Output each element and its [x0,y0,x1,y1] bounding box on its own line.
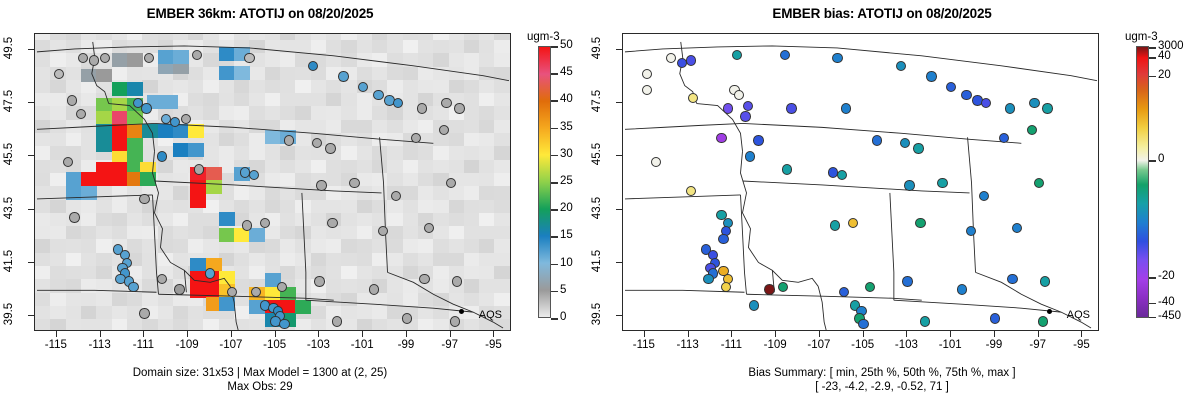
observation-marker[interactable] [89,55,99,65]
observation-marker[interactable] [703,274,713,284]
y-tick-mark [616,155,622,156]
x-tick-label: -115 [624,339,664,351]
colorbar-tick-label: 5 [560,284,566,296]
x-tick-label: -109 [755,339,795,351]
observation-marker[interactable] [349,178,359,188]
y-tick-label: 49.5 [591,31,603,65]
x-tick-mark [362,331,363,337]
colorbar-tick-mark [1149,303,1156,305]
observation-marker[interactable] [174,284,184,294]
observation-marker[interactable] [990,313,1000,323]
observation-marker[interactable] [1042,103,1052,113]
observation-marker[interactable] [686,55,696,65]
x-tick-mark [994,331,995,337]
colorbar-tick-label: 25 [560,175,573,187]
observation-marker[interactable] [369,284,379,294]
observation-marker[interactable] [957,284,967,294]
colorbar-tick-mark [551,209,558,211]
observation-marker[interactable] [937,178,947,188]
observation-marker[interactable] [325,143,335,153]
observation-marker[interactable] [332,316,342,326]
x-tick-label: -115 [36,339,76,351]
x-tick-label: -95 [473,339,513,351]
colorbar-tick-label: 45 [560,66,573,78]
colorbar-tick-label: 40 [1158,50,1171,62]
observation-marker[interactable] [205,268,215,278]
x-tick-mark [775,331,776,337]
colorbar-tick-mark [1149,317,1156,319]
colorbar-tick-label: 50 [560,39,573,51]
x-tick-label: -113 [80,339,120,351]
observation-marker[interactable] [316,180,326,190]
y-tick-label: 47.5 [3,84,15,118]
colorbar-tick-label: 0 [1158,153,1164,165]
observation-marker[interactable] [786,103,796,113]
x-tick-label: -101 [342,339,382,351]
y-tick-label: 45.5 [3,137,15,171]
x-tick-label: -105 [843,339,883,351]
colorbar-tick-mark [1149,76,1156,78]
x-tick-label: -111 [123,339,163,351]
observation-marker[interactable] [858,319,868,329]
observation-marker[interactable] [913,143,923,153]
x-tick-label: -97 [1018,339,1058,351]
bias-panel: EMBER bias: ATOTIJ on 08/20/2025 [600,0,1200,409]
x-tick-label: -105 [255,339,295,351]
observation-marker[interactable] [454,103,464,113]
observation-marker[interactable] [378,226,388,236]
right-caption-line2: [ -23, -4.2, -2.9, -0.52, 71 ] [622,380,1142,394]
y-tick-label: 43.5 [591,191,603,225]
observation-marker[interactable] [1038,316,1048,326]
observation-marker[interactable] [157,274,167,284]
colorbar-tick-mark [1149,57,1156,59]
state-boundaries-right [623,34,1098,330]
x-tick-label: -99 [974,339,1014,351]
x-tick-mark [906,331,907,337]
colorbar-tick-label: 20 [1158,69,1171,81]
observation-marker[interactable] [723,103,733,113]
x-tick-mark [187,331,188,337]
x-tick-mark [863,331,864,337]
observation-marker[interactable] [926,71,936,81]
right-caption: Bias Summary: [ min, 25th %, 50th %, 75t… [622,366,1142,394]
x-tick-mark [1081,331,1082,337]
y-tick-mark [616,209,622,210]
right-colorbar [1136,46,1149,318]
x-tick-mark [493,331,494,337]
y-tick-label: 49.5 [3,31,15,65]
observation-marker[interactable] [718,234,728,244]
observation-marker[interactable] [67,95,77,105]
y-tick-label: 39.5 [3,297,15,331]
observation-marker[interactable] [841,103,851,113]
observation-marker[interactable] [452,276,462,286]
x-tick-mark [819,331,820,337]
left-caption: Domain size: 31x53 | Max Model = 1300 at… [0,366,520,394]
colorbar-tick-label: -20 [1158,270,1175,282]
x-tick-label: -101 [930,339,970,351]
observation-marker[interactable] [441,98,451,108]
x-tick-mark [450,331,451,337]
colorbar-tick-mark [551,46,558,48]
observation-marker[interactable] [1034,178,1044,188]
colorbar-tick-label: 30 [560,148,573,160]
colorbar-tick-mark [1149,47,1156,49]
y-tick-mark [28,102,34,103]
aqs-legend-label-right: AQS [1067,309,1090,321]
observation-marker[interactable] [1029,98,1039,108]
observation-marker[interactable] [446,178,456,188]
observation-marker[interactable] [782,164,792,174]
x-tick-label: -97 [430,339,470,351]
observation-marker[interactable] [244,53,254,63]
observation-marker[interactable] [419,274,429,284]
left-colorbar [538,46,551,318]
left-colorbar-units: ugm-3 [527,31,560,43]
observation-marker[interactable] [63,157,73,167]
colorbar-tick-label: -450 [1158,310,1181,322]
x-tick-mark [644,331,645,337]
right-colorbar-units: ugm-3 [1125,31,1158,43]
observation-marker[interactable] [402,313,412,323]
colorbar-tick-mark [551,236,558,238]
x-tick-mark [275,331,276,337]
colorbar-tick-label: 0 [560,311,566,323]
observation-marker[interactable] [314,276,324,286]
observation-marker[interactable] [721,282,731,292]
observation-marker[interactable] [745,151,755,161]
y-tick-label: 43.5 [3,191,15,225]
x-tick-mark [100,331,101,337]
aqs-legend-label-left: AQS [479,309,502,321]
colorbar-tick-mark [551,100,558,102]
y-tick-mark [28,49,34,50]
x-tick-label: -107 [211,339,251,351]
colorbar-tick-mark [551,264,558,266]
observation-marker[interactable] [144,53,154,63]
y-tick-label: 39.5 [591,297,603,331]
colorbar-tick-mark [551,291,558,293]
x-tick-mark [231,331,232,337]
left-caption-line1: Domain size: 31x53 | Max Model = 1300 at… [0,366,520,380]
y-tick-mark [616,262,622,263]
colorbar-tick-mark [551,73,558,75]
y-tick-mark [28,155,34,156]
x-tick-label: -95 [1061,339,1101,351]
observation-marker[interactable] [373,90,383,100]
observation-marker[interactable] [904,180,914,190]
observation-marker[interactable] [764,284,774,294]
y-tick-label: 45.5 [591,137,603,171]
observation-marker[interactable] [1007,274,1017,284]
colorbar-tick-label: 40 [560,93,573,105]
y-tick-mark [616,49,622,50]
observation-marker[interactable] [284,135,294,145]
y-tick-label: 41.5 [591,244,603,278]
observation-marker[interactable] [411,133,421,143]
x-tick-label: -107 [799,339,839,351]
observation-marker[interactable] [753,135,763,145]
observation-marker[interactable] [327,218,337,228]
x-tick-mark [56,331,57,337]
y-tick-mark [28,262,34,263]
colorbar-tick-label: 35 [560,121,573,133]
model-concentration-panel: EMBER 36km: ATOTIJ on 08/20/2025 [0,0,600,409]
x-tick-mark [143,331,144,337]
x-tick-label: -103 [886,339,926,351]
observation-marker[interactable] [743,101,753,111]
x-tick-mark [731,331,732,337]
x-tick-label: -113 [668,339,708,351]
observation-marker[interactable] [896,61,906,71]
observation-marker[interactable] [139,308,149,318]
right-panel-title: EMBER bias: ATOTIJ on 08/20/2025 [622,6,1142,21]
observation-marker[interactable] [716,133,726,143]
x-tick-label: -99 [386,339,426,351]
observation-marker[interactable] [157,151,167,161]
right-map-plot-area[interactable]: AQS [622,33,1099,331]
colorbar-tick-mark [551,155,558,157]
observation-marker[interactable] [872,135,882,145]
colorbar-tick-label: 10 [560,257,573,269]
y-tick-mark [28,315,34,316]
colorbar-tick-label: -40 [1158,296,1175,308]
aqs-legend-dot-left [459,309,464,314]
observation-marker[interactable] [69,212,79,222]
left-caption-line2: Max Obs: 29 [0,380,520,394]
observation-marker[interactable] [338,71,348,81]
left-map-plot-area[interactable]: AQS [34,33,511,331]
observation-marker[interactable] [966,226,976,236]
observation-marker[interactable] [832,53,842,63]
observation-marker[interactable] [194,164,204,174]
y-tick-label: 41.5 [3,244,15,278]
observation-marker[interactable] [249,170,259,180]
observation-marker[interactable] [915,218,925,228]
x-tick-label: -111 [711,339,751,351]
observation-marker[interactable] [1040,276,1050,286]
x-tick-mark [318,331,319,337]
observation-marker[interactable] [961,90,971,100]
observation-marker[interactable] [920,316,930,326]
x-tick-mark [688,331,689,337]
observation-marker[interactable] [651,157,661,167]
colorbar-tick-mark [551,182,558,184]
observation-marker[interactable] [141,103,151,113]
observation-marker[interactable] [848,218,858,228]
observation-marker[interactable] [308,61,318,71]
colorbar-tick-label: 15 [560,229,573,241]
y-tick-label: 47.5 [591,84,603,118]
x-tick-label: -109 [167,339,207,351]
observation-marker[interactable] [740,111,750,121]
y-tick-mark [28,209,34,210]
colorbar-tick-mark [551,318,558,320]
observation-marker[interactable] [902,276,912,286]
observation-marker[interactable] [778,282,788,292]
right-caption-line1: Bias Summary: [ min, 25th %, 50th %, 75t… [622,366,1142,380]
colorbar-tick-mark [551,128,558,130]
observation-marker[interactable] [76,109,86,119]
left-panel-title: EMBER 36km: ATOTIJ on 08/20/2025 [0,6,520,21]
observation-marker[interactable] [260,218,270,228]
observation-marker[interactable] [686,186,696,196]
observation-marker[interactable] [450,316,460,326]
observation-marker[interactable] [279,319,289,329]
x-tick-mark [406,331,407,337]
observation-marker[interactable] [139,194,149,204]
observation-marker[interactable] [999,133,1009,143]
observation-marker[interactable] [837,170,847,180]
observation-marker[interactable] [128,282,138,292]
colorbar-tick-label: 20 [560,202,573,214]
colorbar-tick-mark [1149,160,1156,162]
x-tick-mark [1038,331,1039,337]
x-tick-mark [950,331,951,337]
aqs-legend-dot-right [1047,309,1052,314]
state-boundaries-left [35,34,510,330]
colorbar-tick-mark [1149,277,1156,279]
y-tick-mark [616,102,622,103]
observation-marker[interactable] [749,300,759,310]
x-tick-label: -103 [298,339,338,351]
figure-container: EMBER 36km: ATOTIJ on 08/20/2025 [0,0,1200,409]
y-tick-mark [616,315,622,316]
